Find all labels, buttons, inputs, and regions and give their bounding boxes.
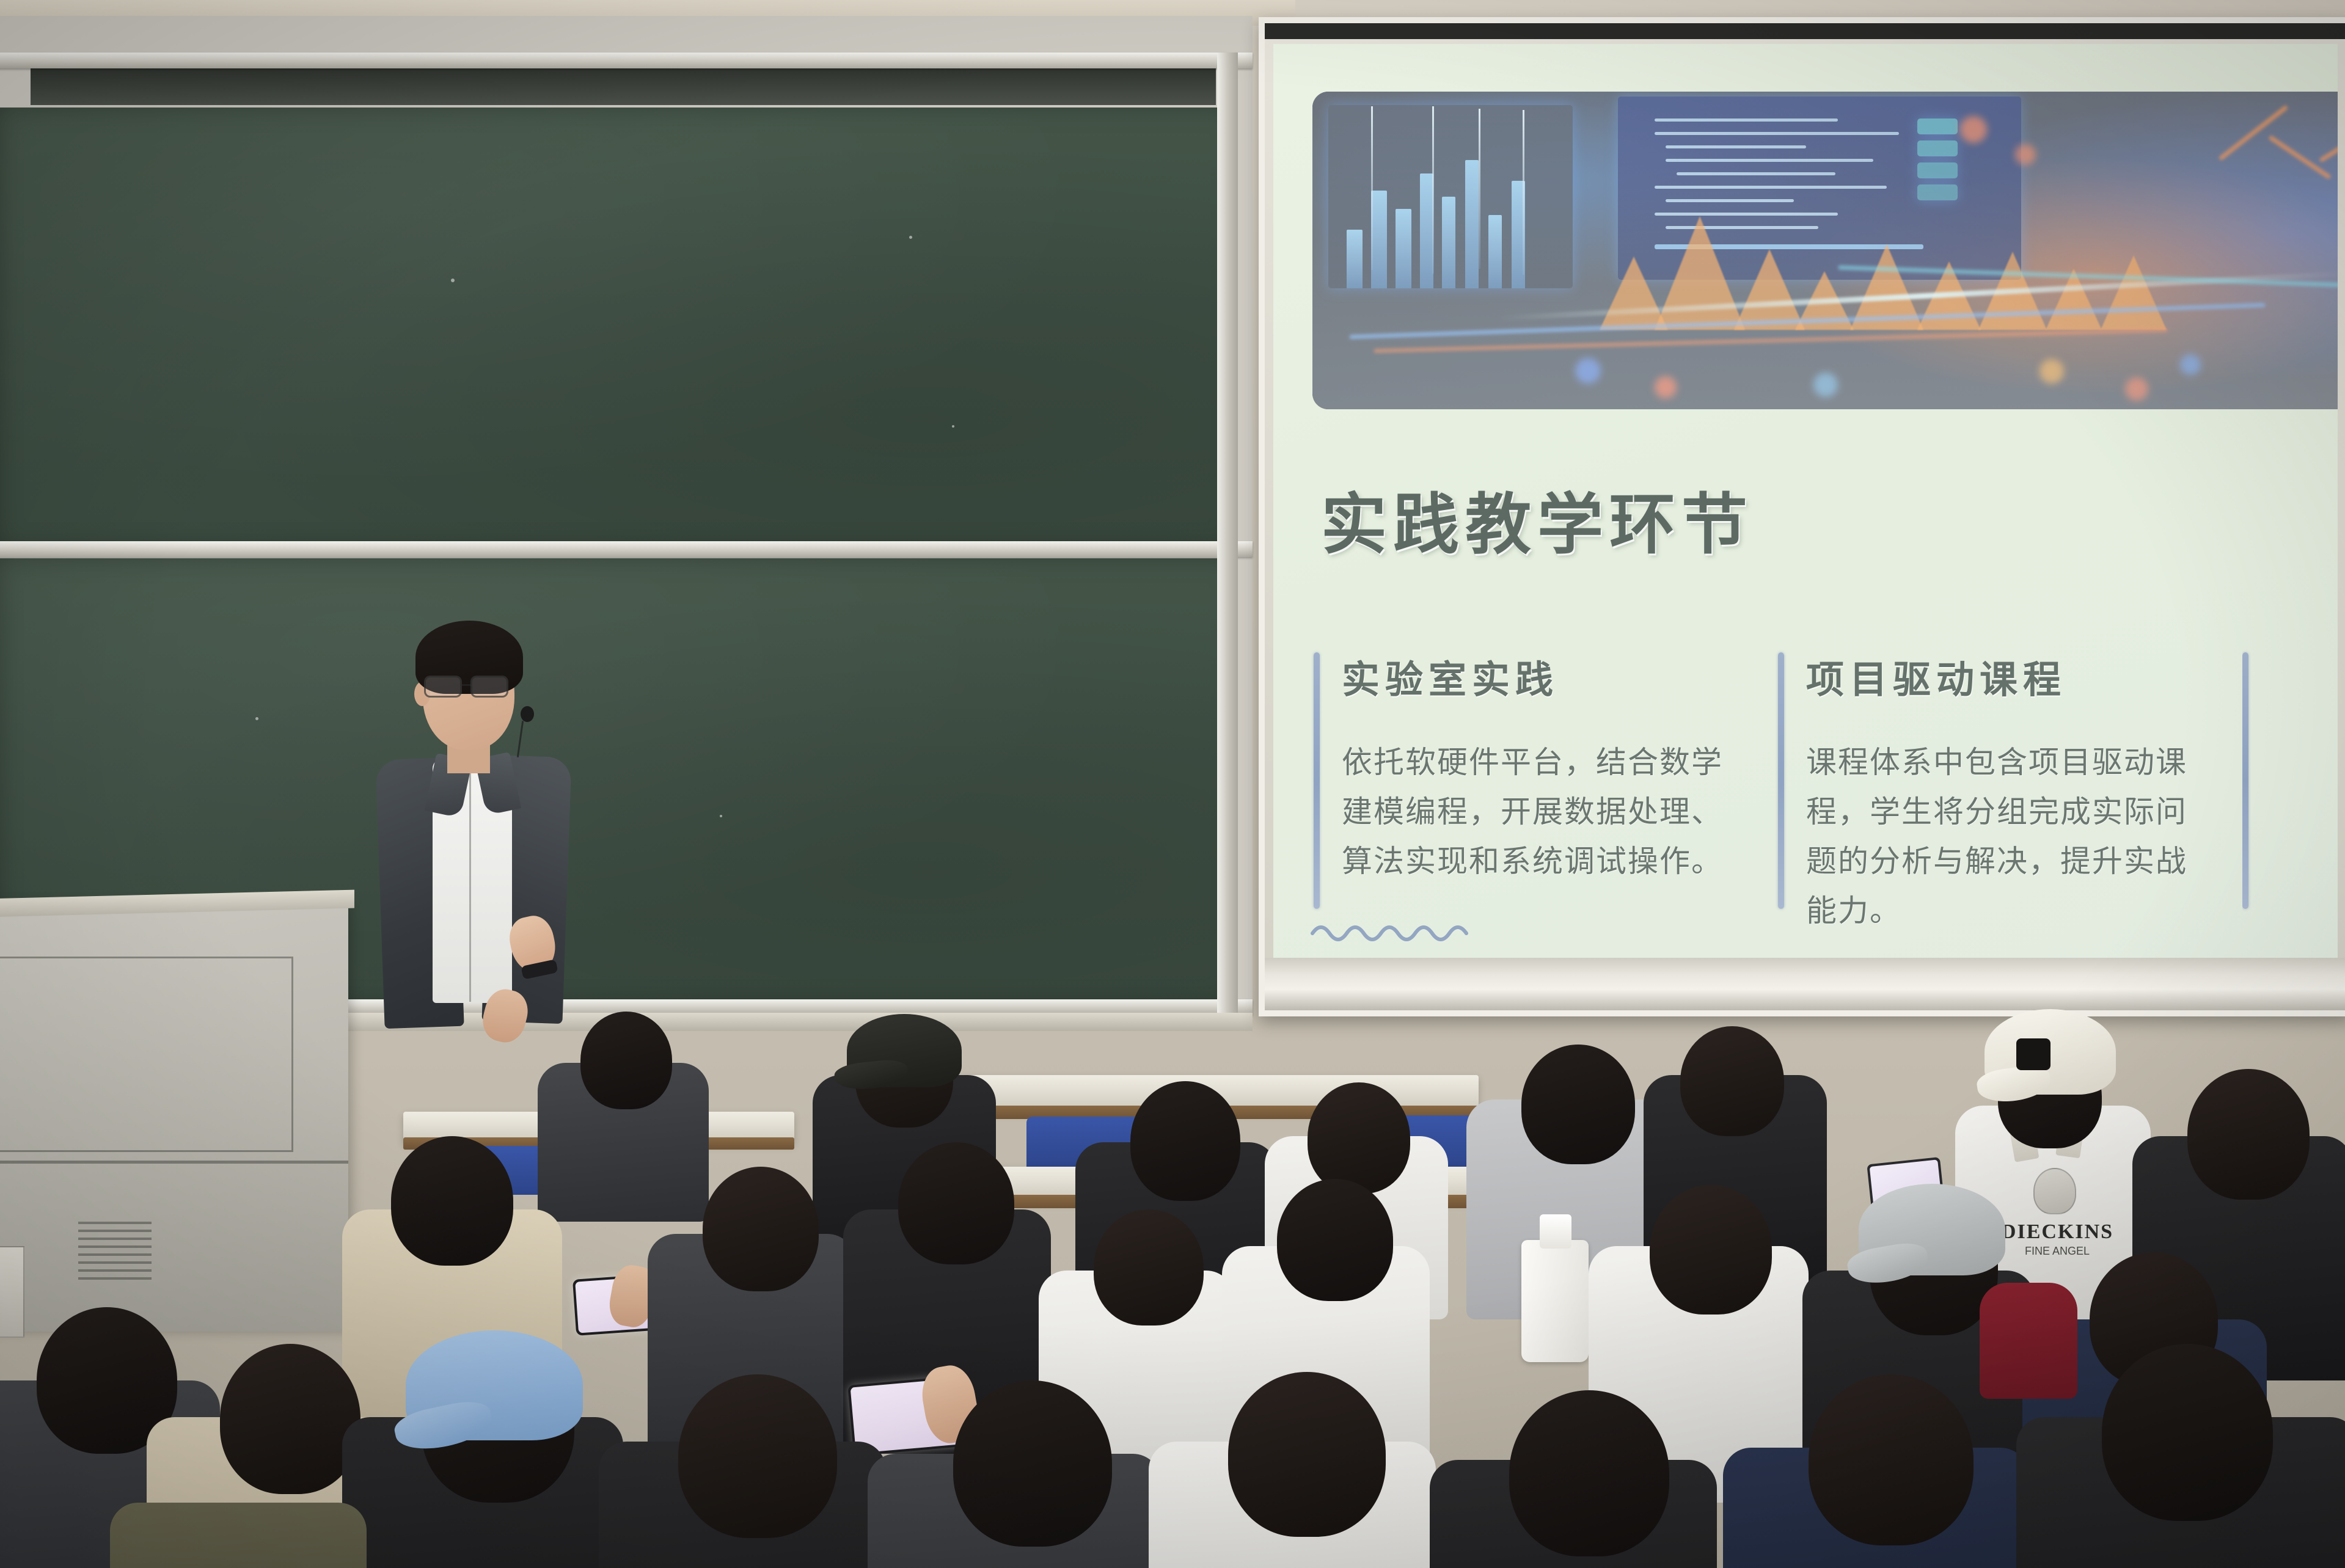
column-heading: 项目驱动课程 xyxy=(1806,649,2242,704)
blackboard-rail-middle xyxy=(0,541,1253,557)
lapel-microphone-icon xyxy=(521,706,534,722)
bottle-cap-icon xyxy=(1540,1214,1571,1249)
projection-screen: 实践教学环节 实验室实践 依托软硬件平台，结合数学建模编程，开展数据处理、算法实… xyxy=(1259,17,2345,1016)
student-head xyxy=(1680,1026,1784,1136)
student-body xyxy=(1980,1283,2077,1399)
student-head xyxy=(1308,1082,1410,1194)
student-audience: DIECKINS FINE ANGEL xyxy=(0,953,2345,1568)
student-head xyxy=(678,1374,837,1538)
column-body-text: 课程体系中包含项目驱动课程，学生将分组完成实际问题的分析与解决，提升实战能力。 xyxy=(1806,738,2209,936)
student-head xyxy=(2187,1069,2310,1200)
column-heading: 实验室实践 xyxy=(1342,649,1778,704)
student-head xyxy=(2102,1344,2273,1521)
blackboard-panel-upper xyxy=(0,108,1236,547)
hero-projection-washout xyxy=(1312,92,2338,409)
slide-column-third-cropped xyxy=(2242,649,2297,942)
student-head xyxy=(1228,1372,1386,1537)
slide-column-project-course: 项目驱动课程 课程体系中包含项目驱动课程，学生将分组完成实际问题的分析与解决，提… xyxy=(1778,649,2242,942)
student-head xyxy=(1521,1045,1635,1164)
slide-columns: 实验室实践 依托软硬件平台，结合数学建模编程，开展数据处理、算法实现和系统调试操… xyxy=(1314,649,2338,942)
column-accent-bar xyxy=(1314,652,1320,909)
lecture-hall-photo: 实践教学环节 实验室实践 依托软硬件平台，结合数学建模编程，开展数据处理、算法实… xyxy=(0,0,2345,1568)
student-body xyxy=(110,1503,367,1568)
student-head xyxy=(898,1142,1014,1264)
blackboard-rail-top xyxy=(0,53,1253,68)
screen-top-bar xyxy=(1265,23,2345,39)
blackboard-vertical-rail xyxy=(1217,53,1238,1018)
blackboard-upper-shadow xyxy=(31,68,1216,105)
glasses-icon xyxy=(423,676,516,698)
student-head xyxy=(1130,1081,1240,1201)
microphone-wire xyxy=(517,721,524,757)
column-accent-bar xyxy=(2242,652,2248,909)
student-head xyxy=(1277,1179,1393,1301)
water-bottle xyxy=(1521,1240,1589,1362)
slide-hero-image xyxy=(1312,92,2338,409)
slide-column-lab-practice: 实验室实践 依托软硬件平台，结合数学建模编程，开展数据处理、算法实现和系统调试操… xyxy=(1314,649,1778,942)
slide-title: 实践教学环节 xyxy=(1321,472,1754,567)
cap-back-opening xyxy=(2016,1038,2051,1070)
column-accent-bar xyxy=(1778,652,1784,909)
student-head xyxy=(953,1380,1112,1547)
hoodie-brand-subtext: FINE ANGEL xyxy=(1993,1245,2121,1258)
hoodie-logo-icon xyxy=(2033,1168,2076,1214)
student-head xyxy=(1509,1390,1669,1556)
student-head xyxy=(391,1136,513,1266)
hoodie-brand-text: DIECKINS xyxy=(1987,1220,2127,1244)
student-head xyxy=(703,1167,819,1291)
student-head xyxy=(580,1012,672,1109)
student-head xyxy=(1650,1185,1772,1315)
wavy-decoration-icon xyxy=(1310,917,1512,958)
blackboard-assembly xyxy=(0,16,1253,1024)
student-head xyxy=(1094,1209,1204,1326)
student-head xyxy=(1809,1374,1974,1545)
presentation-slide: 实践教学环节 实验室实践 依托软硬件平台，结合数学建模编程，开展数据处理、算法实… xyxy=(1273,44,2338,958)
column-body-text: 依托软硬件平台，结合数学建模编程，开展数据处理、算法实现和系统调试操作。 xyxy=(1342,738,1745,886)
student-head xyxy=(220,1344,360,1494)
